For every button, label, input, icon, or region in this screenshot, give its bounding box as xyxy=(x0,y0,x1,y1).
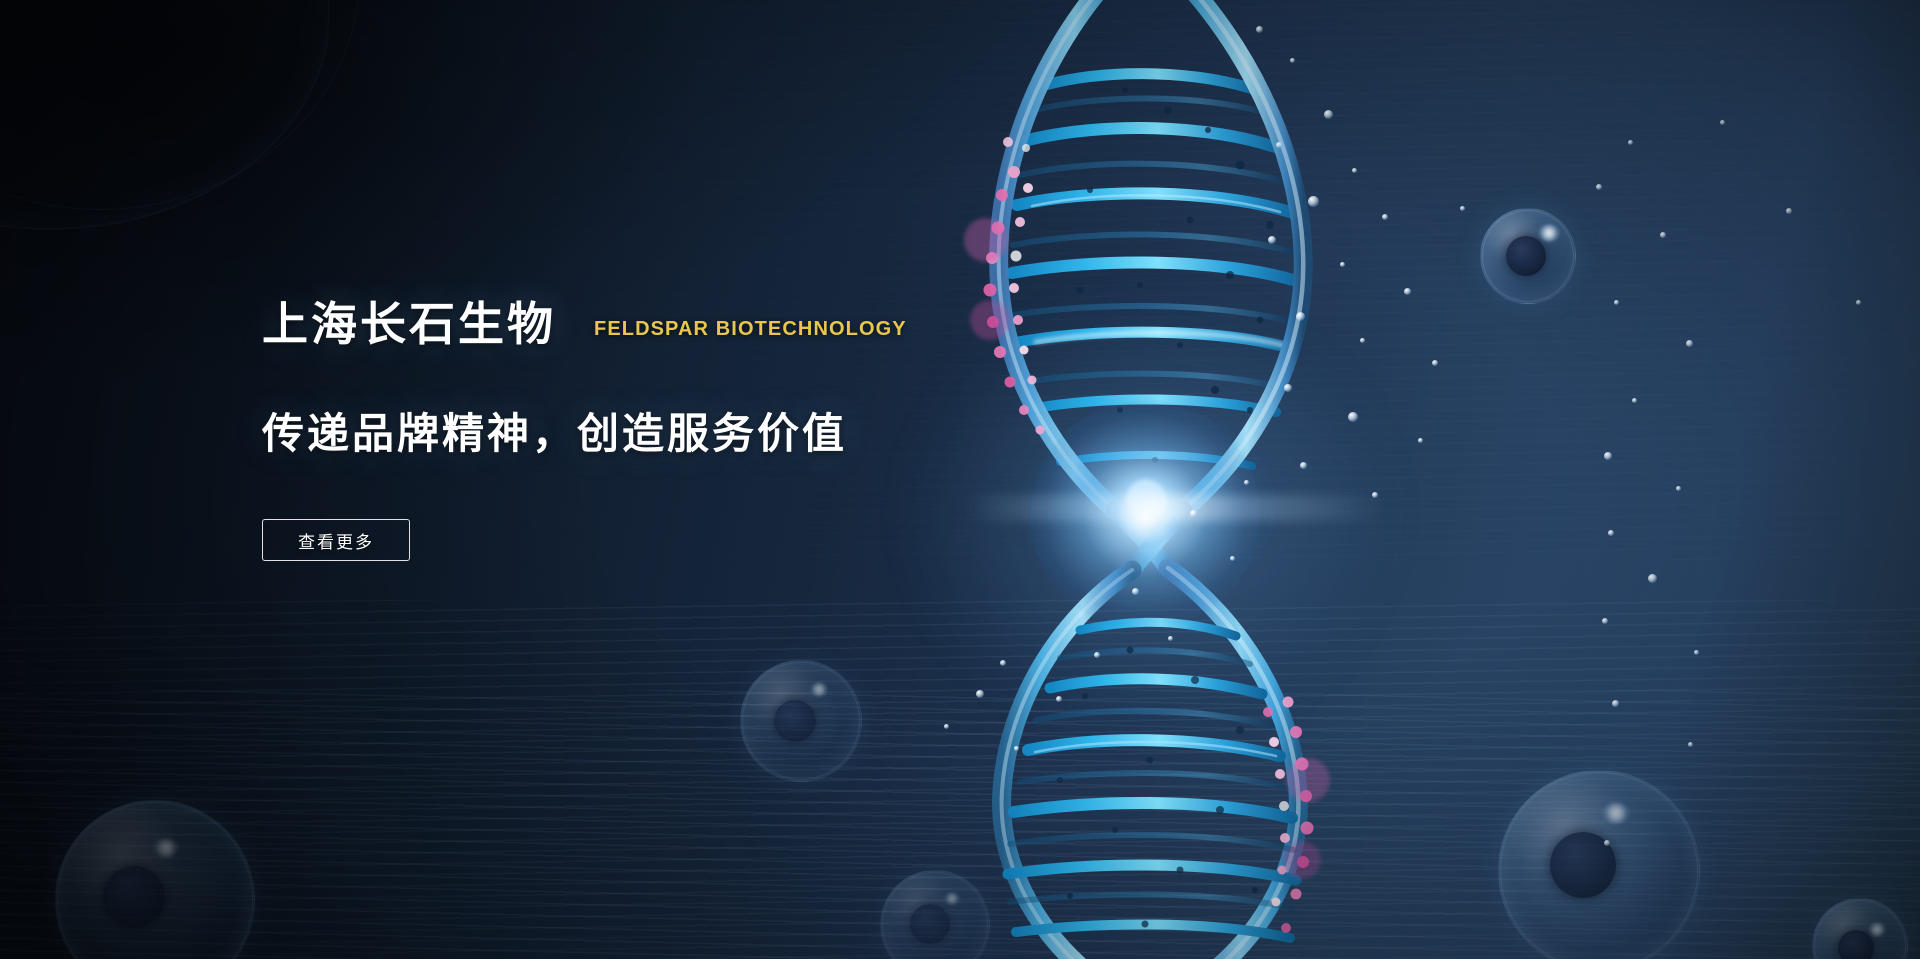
brand-name-chinese: 上海长石生物 xyxy=(262,300,556,348)
brand-title-row: 上海长石生物 FELDSPAR BIOTECHNOLOGY xyxy=(262,300,1242,348)
view-more-button[interactable]: 查看更多 xyxy=(262,519,410,561)
hero-tagline: 传递品牌精神，创造服务价值 xyxy=(262,400,1242,461)
hero-banner: 上海长石生物 FELDSPAR BIOTECHNOLOGY 传递品牌精神，创造服… xyxy=(0,0,1920,959)
brand-name-english: FELDSPAR BIOTECHNOLOGY xyxy=(594,318,907,348)
hero-content: 上海长石生物 FELDSPAR BIOTECHNOLOGY 传递品牌精神，创造服… xyxy=(262,300,1242,561)
